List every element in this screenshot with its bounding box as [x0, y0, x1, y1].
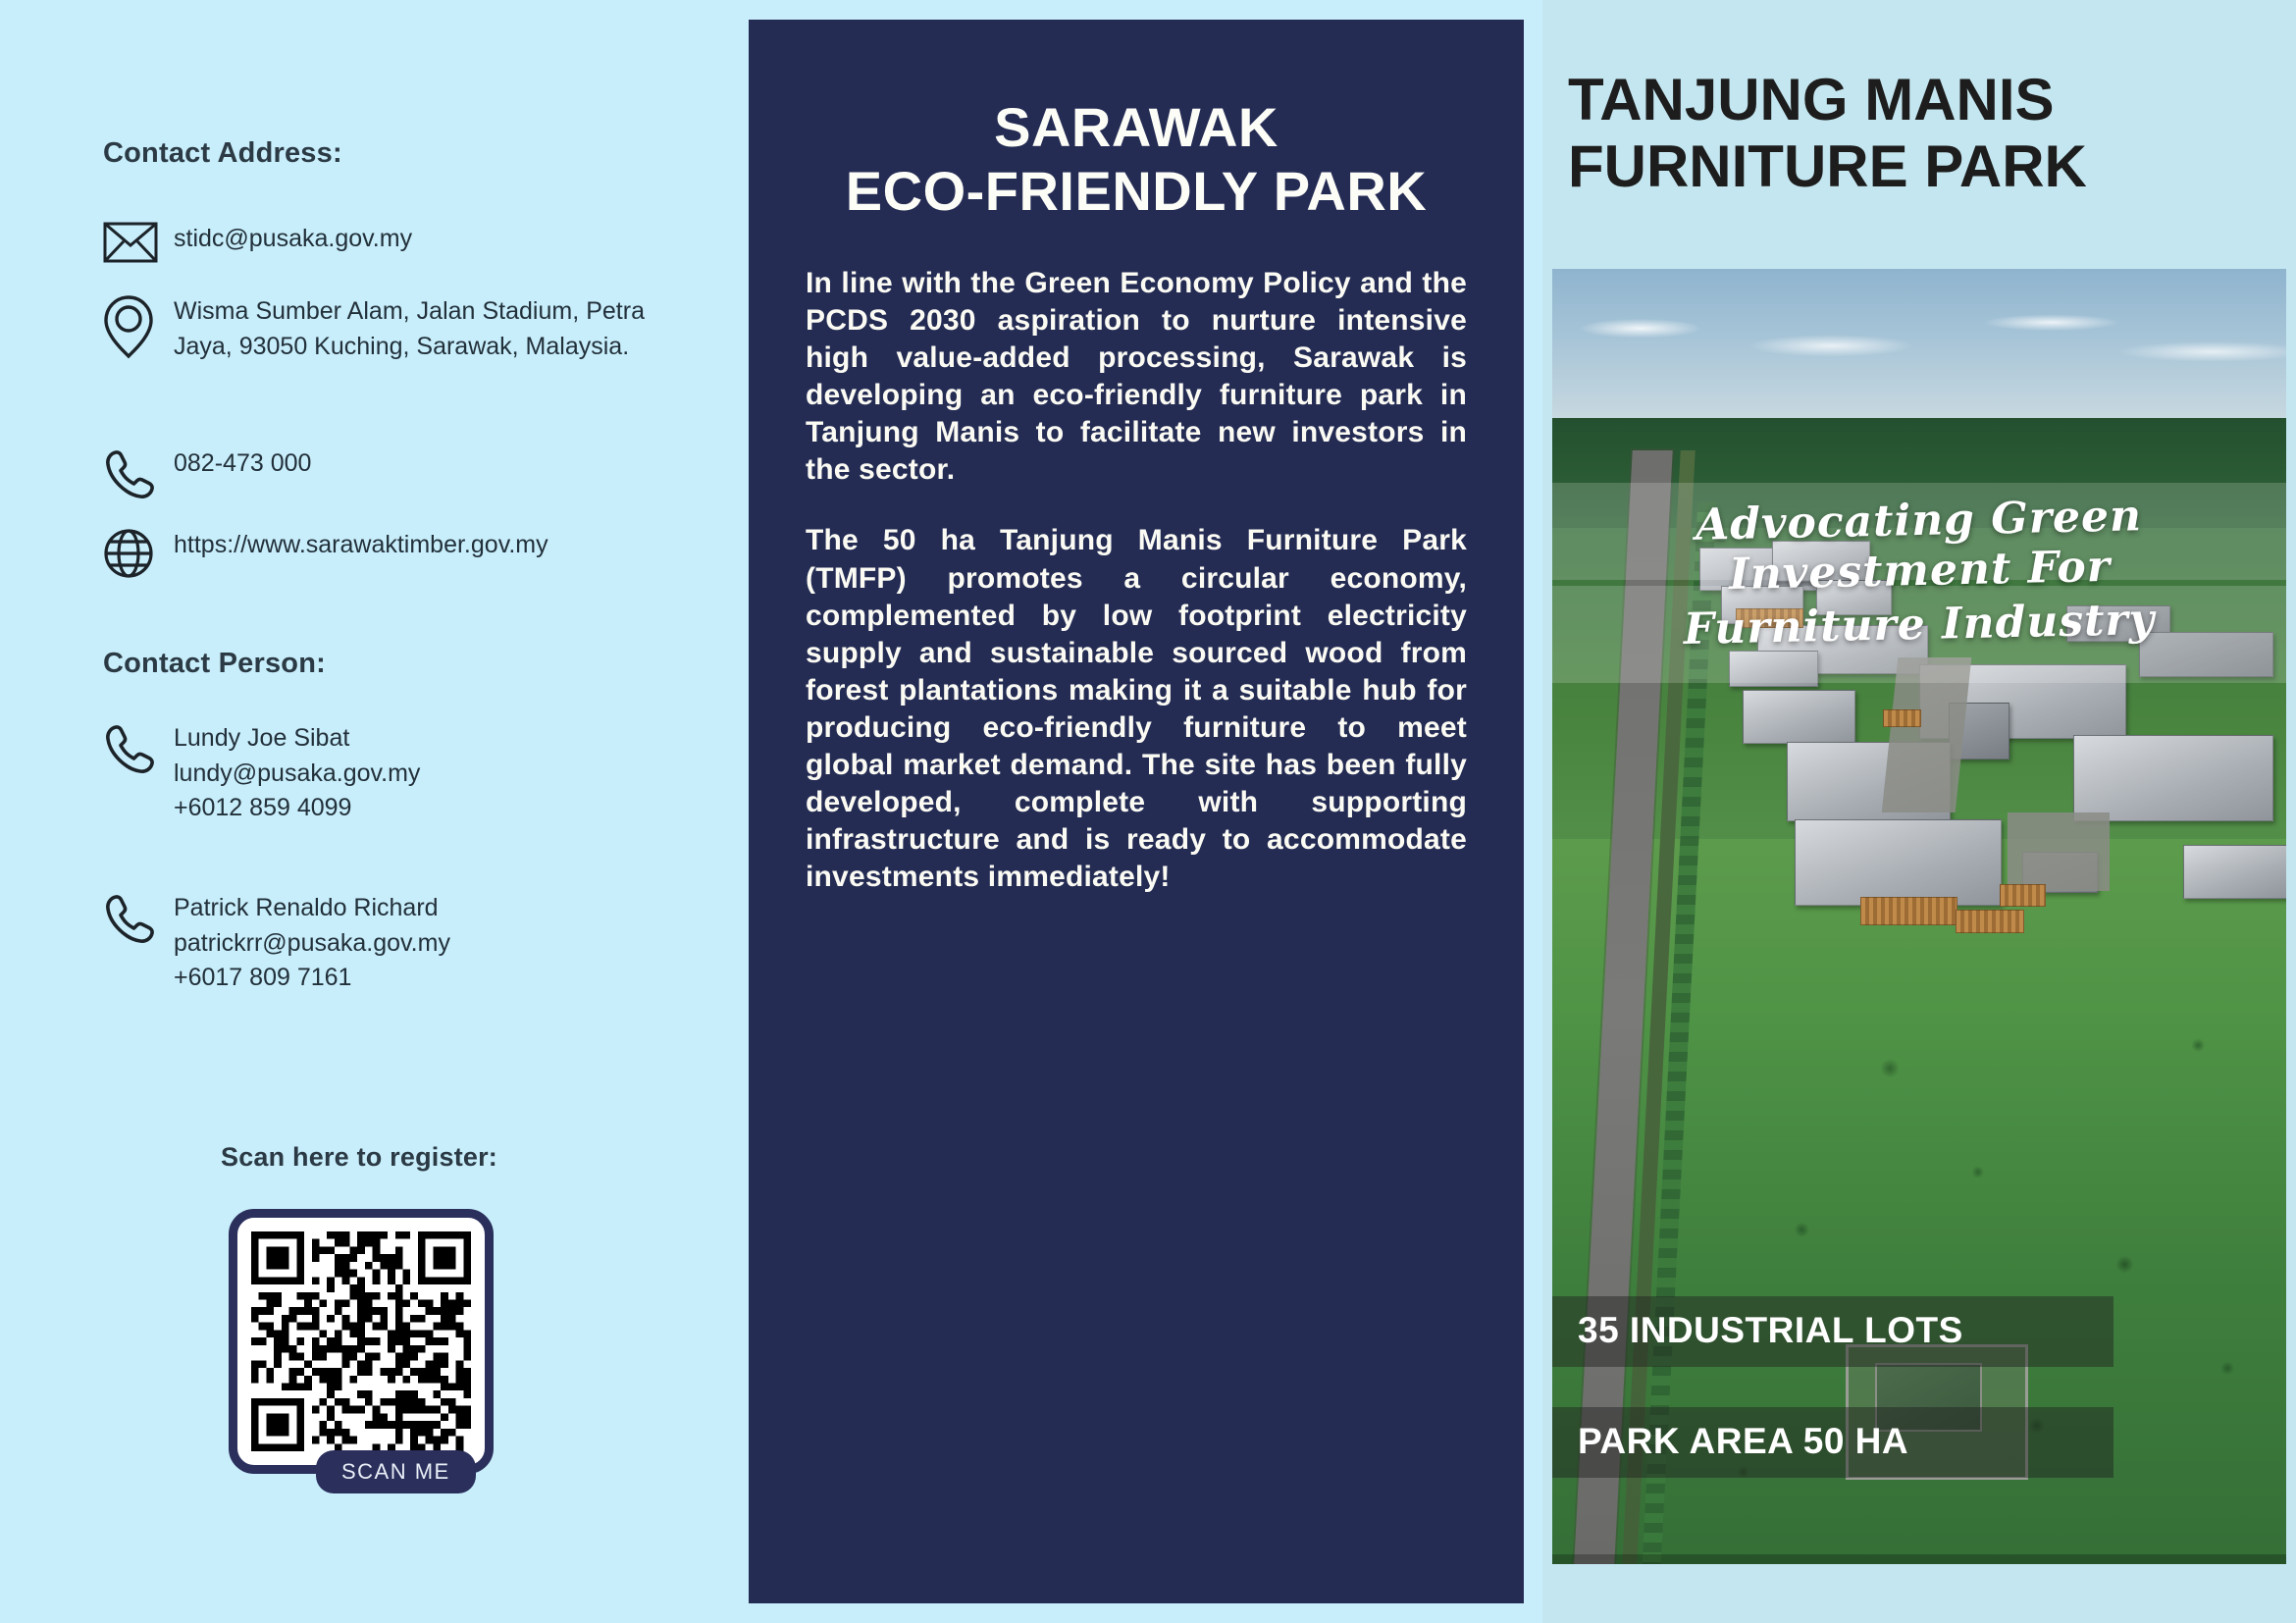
center-panel-title: SARAWAK ECO-FRIENDLY PARK	[806, 20, 1467, 224]
center-paragraph-2: The 50 ha Tanjung Manis Furniture Park (…	[806, 522, 1467, 896]
fact-tag-park-area: PARK AREA 50 HA	[1552, 1407, 2113, 1478]
right-title-line1: TANJUNG MANIS	[1568, 67, 2055, 132]
qr-code-canvas	[251, 1231, 471, 1451]
contact-website-text[interactable]: https://www.sarawaktimber.gov.my	[174, 528, 548, 563]
envelope-icon	[103, 222, 174, 263]
globe-icon	[103, 528, 174, 579]
contact-person-details: Lundy Joe Sibat lundy@pusaka.gov.my +601…	[174, 721, 420, 826]
person-email: lundy@pusaka.gov.my	[174, 757, 420, 792]
photo-timber-stack	[1956, 910, 2023, 932]
phone-icon	[103, 721, 174, 776]
qr-code[interactable]	[229, 1209, 494, 1474]
person-phone: +6017 809 7161	[174, 961, 450, 996]
left-contact-panel: Contact Address: stidc@pusaka.gov.my Wis…	[0, 0, 749, 1623]
photo-timber-stack	[1860, 897, 1957, 924]
fact-tag-industrial-lots: 35 INDUSTRIAL LOTS	[1552, 1296, 2113, 1367]
center-panel-body: In line with the Green Economy Policy an…	[806, 265, 1467, 897]
person-email: patrickrr@pusaka.gov.my	[174, 926, 450, 962]
contact-person-heading: Contact Person:	[103, 648, 326, 680]
right-panel-title: TANJUNG MANIS FURNITURE PARK	[1568, 67, 2270, 201]
contact-phone-row[interactable]: 082-473 000	[103, 446, 311, 501]
contact-email-text: stidc@pusaka.gov.my	[174, 222, 412, 257]
map-pin-icon	[103, 294, 174, 359]
scan-me-badge: SCAN ME	[316, 1450, 476, 1493]
photo-warehouse	[1743, 690, 1854, 744]
photo-warehouse	[2183, 845, 2286, 899]
contact-phone-text: 082-473 000	[174, 446, 311, 482]
person-name: Lundy Joe Sibat	[174, 721, 420, 757]
contact-website-row[interactable]: https://www.sarawaktimber.gov.my	[103, 528, 548, 579]
contact-person-row[interactable]: Patrick Renaldo Richard patrickrr@pusaka…	[103, 891, 450, 996]
brochure-page: Contact Address: stidc@pusaka.gov.my Wis…	[0, 0, 2296, 1623]
person-name: Patrick Renaldo Richard	[174, 891, 450, 926]
photo-bottom-edge	[1552, 1554, 2286, 1564]
aerial-park-photo: Advocating Green Investment For Furnitur…	[1552, 269, 2286, 1564]
contact-address-heading: Contact Address:	[103, 137, 342, 170]
center-title-line1: SARAWAK	[994, 96, 1278, 158]
contact-person-details: Patrick Renaldo Richard patrickrr@pusaka…	[174, 891, 450, 996]
photo-warehouse	[1795, 819, 2002, 906]
photo-timber-stack	[2000, 884, 2046, 907]
contact-address-row: Wisma Sumber Alam, Jalan Stadium, Petra …	[103, 294, 645, 364]
phone-icon	[103, 891, 174, 946]
contact-address-text: Wisma Sumber Alam, Jalan Stadium, Petra …	[174, 294, 645, 364]
contact-email-row[interactable]: stidc@pusaka.gov.my	[103, 222, 412, 263]
photo-warehouse	[2073, 735, 2273, 821]
scan-to-register-heading: Scan here to register:	[221, 1142, 497, 1173]
right-title-line2: FURNITURE PARK	[1568, 133, 2270, 200]
photo-timber-stack	[1883, 709, 1921, 727]
photo-caption-line1: Advocating Green Investment For	[1552, 488, 2286, 603]
photo-yard	[2008, 812, 2111, 890]
contact-person-row[interactable]: Lundy Joe Sibat lundy@pusaka.gov.my +601…	[103, 721, 420, 826]
photo-clouds	[1552, 282, 2286, 398]
phone-icon	[103, 446, 174, 501]
center-paragraph-1: In line with the Green Economy Policy an…	[806, 265, 1467, 490]
center-title-line2: ECO-FRIENDLY PARK	[806, 160, 1467, 224]
person-phone: +6012 859 4099	[174, 791, 420, 826]
center-info-panel: SARAWAK ECO-FRIENDLY PARK In line with t…	[749, 20, 1524, 1603]
right-cover-panel: TANJUNG MANIS FURNITURE PARK	[1542, 0, 2296, 1623]
